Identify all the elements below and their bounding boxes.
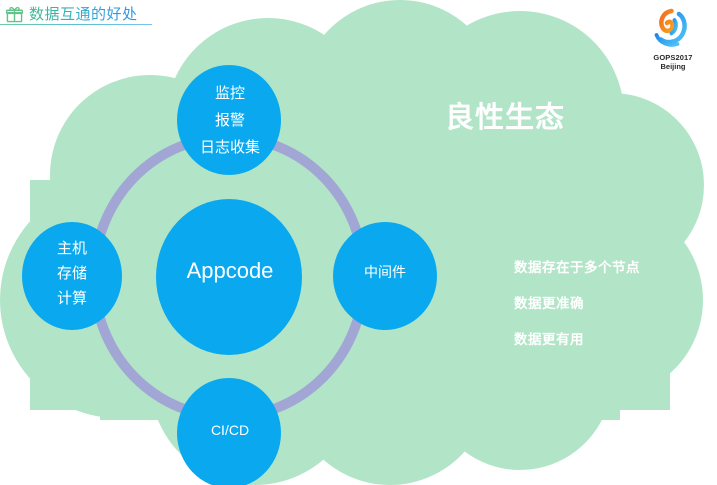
bubble-monitoring[interactable] — [177, 65, 281, 175]
diagram-canvas — [0, 0, 717, 485]
bubble-appcode[interactable] — [156, 199, 302, 355]
bubble-middleware[interactable] — [333, 222, 437, 330]
page-title-bar: 数据互通的好处 — [6, 2, 138, 26]
title-underline — [0, 24, 152, 25]
gops-logo: GOPS2017 Beijing — [637, 5, 709, 71]
logo-line-2: Beijing — [637, 62, 709, 71]
benefits-list: 数据存在于多个节点 数据更准确 数据更有用 — [514, 250, 640, 358]
ecosystem-heading: 良性生态 — [425, 100, 585, 136]
bubble-infrastructure[interactable] — [22, 222, 122, 330]
page-title: 数据互通的好处 — [29, 6, 138, 23]
gift-icon — [6, 6, 23, 23]
benefit-item: 数据更准确 — [514, 286, 640, 322]
slide-canvas: 监控 报警 日志收集 主机 存储 计算 Appcode 中间件 CI/CD 良性… — [0, 0, 717, 485]
benefit-item: 数据存在于多个节点 — [514, 250, 640, 286]
benefit-item: 数据更有用 — [514, 322, 640, 358]
logo-line-1: GOPS2017 — [637, 53, 709, 62]
bubble-cicd[interactable] — [177, 378, 281, 485]
gops-swirl-icon — [649, 5, 697, 53]
